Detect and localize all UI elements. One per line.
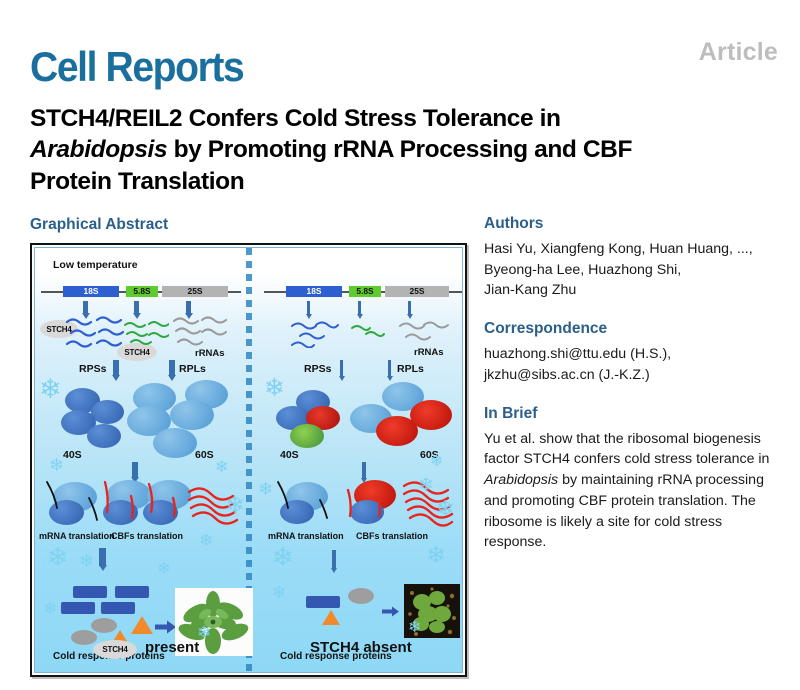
authors-line-2: Byeong-ha Lee, Huazhong Shi, — [484, 262, 681, 278]
authors-line-3: Jian-Kang Zhu — [484, 282, 576, 298]
in-brief-heading: In Brief — [484, 405, 784, 423]
title-italic-species: Arabidopsis — [30, 136, 167, 163]
transcription-arrow-18s — [83, 301, 88, 314]
ribosome-60s-subunit — [153, 428, 197, 458]
cold-protein-bar — [61, 602, 95, 614]
gene-segment-18s: 18S — [286, 286, 342, 297]
ribosome-40s-subunit — [91, 400, 124, 424]
article-type-label: Article — [699, 38, 778, 67]
snowflake-icon: ❄ — [272, 584, 286, 601]
transcription-arrow-58s — [134, 301, 139, 314]
rdna-gene-track-right: 18S 5.8S 25S — [264, 286, 462, 297]
rrna-squiggles-25s — [172, 316, 232, 348]
right-panel-stch4-absent: 18S 5.8S 25S — [258, 248, 463, 672]
in-brief-part-1: Yu et al. show that the ribosomal biogen… — [484, 431, 769, 468]
rrna-squiggles-58s — [123, 320, 169, 346]
rrnas-label-right: rRNAs — [414, 348, 444, 358]
rps-label-right: RPSs — [304, 364, 331, 375]
correspondence-block: Correspondence huazhong.shi@ttu.edu (H.S… — [484, 320, 784, 385]
rpl-assembly-arrow-right — [388, 360, 391, 376]
page-title: STCH4/REIL2 Confers Cold Stress Toleranc… — [30, 103, 770, 197]
left-panel-stch4-present: Low temperature 18S 5.8S 25S STCH4 STCH4 — [35, 248, 246, 672]
subunit-60s-label-left: 60S — [195, 450, 214, 461]
cold-protein-bar — [101, 602, 135, 614]
rpl-label-right: RPLs — [397, 364, 424, 375]
cold-protein-triangle — [322, 610, 340, 625]
mrna-translation-label-left: mRNA translation — [39, 532, 115, 541]
low-temperature-label: Low temperature — [53, 260, 138, 271]
rrna-squiggles-58s-reduced — [350, 322, 386, 340]
correspondence-heading: Correspondence — [484, 320, 784, 338]
article-info-column: Authors Hasi Yu, Xiangfeng Kong, Huan Hu… — [484, 215, 784, 553]
cbf-translation-label-right: CBFs translation — [356, 532, 428, 541]
snowflake-icon: ❄ — [197, 624, 211, 641]
cold-protein-bar — [73, 586, 107, 598]
journal-logo: Cell Reports — [30, 43, 243, 91]
cold-protein-ellipse — [71, 630, 97, 645]
mrna-translation-label-right: mRNA translation — [268, 532, 344, 541]
phenotype-arrow-left — [155, 620, 177, 634]
graphical-abstract-figure: Low temperature 18S 5.8S 25S STCH4 STCH4 — [30, 243, 467, 677]
ribosome-40s-subunit-defective — [290, 424, 324, 448]
ribosome-40s-subunit — [87, 424, 121, 448]
cbf-translation-label-left: CBFs translation — [111, 532, 183, 541]
transcription-arrow-18s — [307, 301, 310, 314]
snowflake-icon: ❄ — [225, 494, 245, 518]
snowflake-icon: ❄ — [47, 544, 69, 570]
rps-label-left: RPSs — [79, 364, 106, 375]
mrna-strand — [43, 476, 105, 528]
snowflake-icon: ❄ — [79, 552, 94, 570]
cold-protein-bar — [115, 586, 149, 598]
snowflake-icon: ❄ — [418, 476, 434, 495]
snowflake-icon: ❄ — [436, 498, 454, 520]
status-present-label: present — [145, 640, 199, 655]
in-brief-block: In Brief Yu et al. show that the ribosom… — [484, 405, 784, 553]
snowflake-icon: ❄ — [272, 544, 294, 570]
gene-segment-25s: 25S — [385, 286, 449, 297]
snowflake-icon: ❄ — [43, 600, 57, 617]
ribosome-60s-subunit-defective — [376, 416, 418, 446]
rrna-squiggles-25s-reduced — [398, 320, 452, 346]
rps-assembly-arrow — [113, 360, 119, 376]
rpl-label-left: RPLs — [179, 364, 206, 375]
authors-heading: Authors — [484, 215, 784, 233]
gene-segment-58s: 5.8S — [349, 286, 381, 297]
graphical-abstract-heading: Graphical Abstract — [30, 216, 168, 234]
mrna-strand — [274, 476, 334, 528]
cbf-protein-chains — [97, 474, 242, 530]
snowflake-icon: ❄ — [408, 620, 421, 636]
snowflake-icon: ❄ — [49, 456, 64, 474]
phenotype-arrow-right — [382, 606, 400, 617]
snowflake-icon: ❄ — [430, 454, 443, 470]
snowflake-icon: ❄ — [157, 560, 171, 577]
translation-to-protein-arrow-left — [99, 548, 106, 566]
snowflake-icon: ❄ — [426, 544, 446, 568]
gene-segment-58s: 5.8S — [126, 286, 158, 297]
transcription-arrow-25s — [408, 301, 411, 314]
translation-to-protein-arrow-right — [332, 550, 336, 568]
snowflake-icon: ❄ — [39, 376, 62, 403]
cold-protein-bar — [306, 596, 340, 608]
cold-protein-triangle — [131, 616, 153, 634]
subunit-40s-label-right: 40S — [280, 450, 299, 461]
figure-canvas: Low temperature 18S 5.8S 25S STCH4 STCH4 — [34, 247, 463, 673]
subunit-40s-label-left: 40S — [63, 450, 82, 461]
title-line-3: Protein Translation — [30, 168, 244, 195]
correspondence-email-1[interactable]: huazhong.shi@ttu.edu (H.S.), — [484, 346, 671, 362]
rps-assembly-arrow-right — [340, 360, 343, 376]
in-brief-italic-species: Arabidopsis — [484, 472, 558, 488]
snowflake-icon: ❄ — [264, 376, 285, 401]
snowflake-icon: ❄ — [199, 532, 213, 549]
graphical-abstract-page: Article Cell Reports STCH4/REIL2 Confers… — [0, 0, 800, 690]
ribosome-60s-subunit — [170, 400, 214, 430]
authors-list: Hasi Yu, Xiangfeng Kong, Huan Huang, ...… — [484, 239, 784, 301]
correspondence-email-2[interactable]: jkzhu@sibs.ac.cn (J.-K.Z.) — [484, 367, 650, 383]
gene-segment-18s: 18S — [63, 286, 119, 297]
authors-line-1: Hasi Yu, Xiangfeng Kong, Huan Huang, ...… — [484, 241, 753, 257]
status-absent-label: STCH4 absent — [310, 640, 412, 655]
title-line-1: STCH4/REIL2 Confers Cold Stress Toleranc… — [30, 105, 561, 132]
rdna-gene-track-left: 18S 5.8S 25S — [41, 286, 241, 297]
transcription-arrow-58s — [358, 301, 361, 314]
status-stch4-badge: STCH4 — [93, 640, 137, 659]
snowflake-icon: ❄ — [258, 480, 273, 498]
rpl-assembly-arrow — [169, 360, 175, 376]
rrnas-label-left: rRNAs — [195, 349, 225, 359]
correspondence-emails: huazhong.shi@ttu.edu (H.S.), jkzhu@sibs.… — [484, 344, 784, 385]
transcription-arrow-25s — [186, 301, 191, 314]
snowflake-icon: ❄ — [215, 460, 228, 476]
in-brief-text: Yu et al. show that the ribosomal biogen… — [484, 429, 784, 553]
rrna-squiggles-18s — [65, 316, 127, 350]
authors-block: Authors Hasi Yu, Xiangfeng Kong, Huan Hu… — [484, 215, 784, 301]
title-line-2: by Promoting rRNA Processing and CBF — [167, 136, 632, 163]
cold-protein-ellipse — [348, 588, 374, 604]
rrna-squiggles-18s-reduced — [290, 320, 340, 348]
gene-segment-25s: 25S — [162, 286, 228, 297]
